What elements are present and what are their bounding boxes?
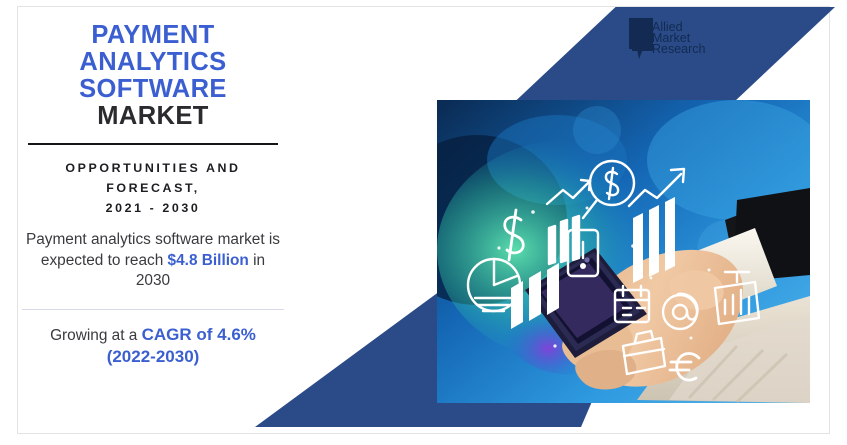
title-divider (28, 143, 278, 145)
svg-text:Research: Research (652, 42, 705, 56)
title-line-4: MARKET (18, 103, 288, 130)
phone-analytics-illustration (437, 100, 810, 403)
subtitle-line-3: 2021 - 2030 (18, 198, 288, 218)
subtitle-line-1: OPPORTUNITIES AND (18, 158, 288, 178)
text-column: PAYMENT ANALYTICS SOFTWARE MARKET OPPORT… (18, 7, 288, 427)
subtitle-line-2: FORECAST, (18, 178, 288, 198)
infographic-banner: Allied Market Research (0, 0, 847, 445)
page-title: PAYMENT ANALYTICS SOFTWARE MARKET (18, 22, 288, 130)
statement-value: $4.8 Billion (168, 252, 249, 269)
hero-photo (437, 100, 810, 403)
title-line-2: ANALYTICS (18, 49, 288, 76)
title-line-1: PAYMENT (18, 22, 288, 49)
market-value-statement: Payment analytics software market is exp… (18, 230, 288, 291)
cagr-prefix: Growing at a (50, 327, 142, 344)
statement-divider (22, 309, 284, 310)
title-line-3: SOFTWARE (18, 76, 288, 103)
subtitle: OPPORTUNITIES AND FORECAST, 2021 - 2030 (18, 158, 288, 218)
cagr-statement: Growing at a CAGR of 4.6% (2022-2030) (18, 324, 288, 369)
allied-market-research-logo: Allied Market Research (627, 16, 705, 61)
speech-bubble-bars-icon: Allied Market Research (627, 16, 705, 61)
